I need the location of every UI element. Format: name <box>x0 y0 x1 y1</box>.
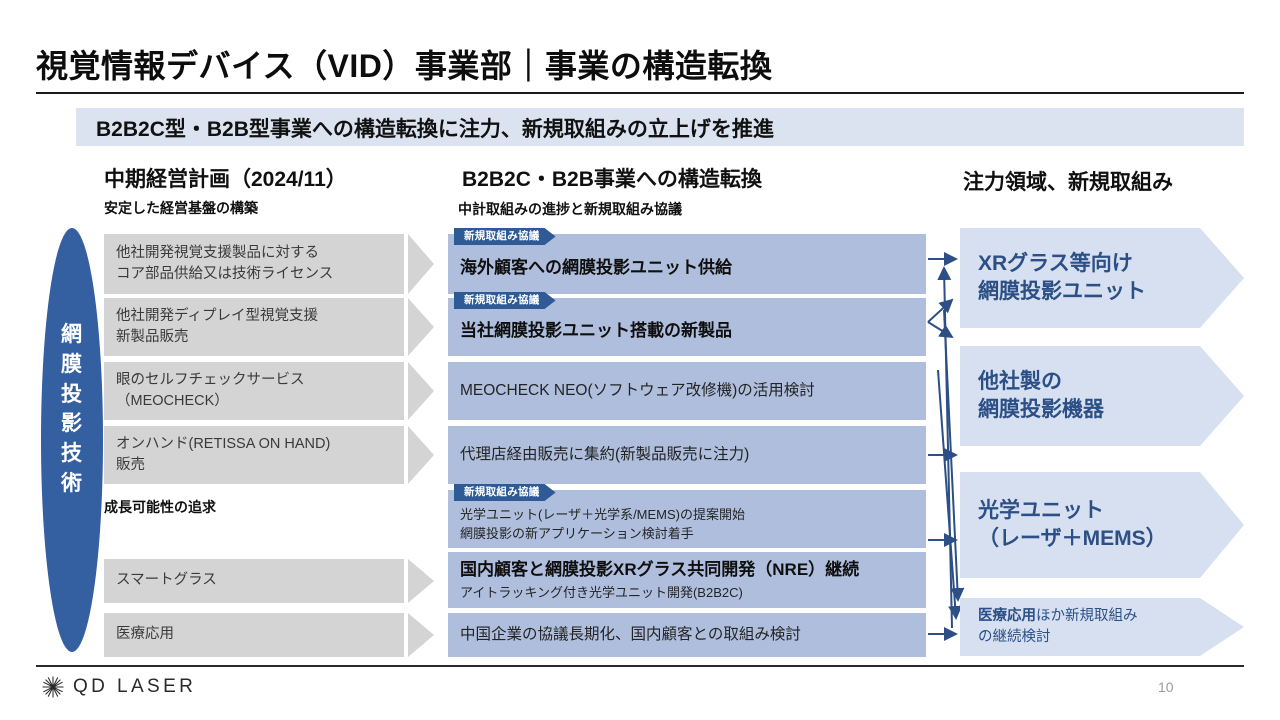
footer-divider <box>36 665 1244 667</box>
column-header-left: 中期経営計画（2024/11） <box>104 163 347 193</box>
middle-item-2-line-1: 当社網膜投影ユニット搭載の新製品 <box>460 319 914 344</box>
right-item-4-bold-prefix: 医療応用 <box>978 608 1036 624</box>
middle-item-2-badge: 新規取組み協議 <box>454 292 556 309</box>
left-arrow-1-icon <box>408 234 434 294</box>
left-arrow-4-icon <box>408 426 434 484</box>
oval-char-1: 網 <box>41 320 103 350</box>
right-item-3-line-2: （レーザ＋MEMS） <box>978 525 1244 553</box>
left-item-4-line-1: オンハンド(RETISSA ON HAND) <box>116 434 394 455</box>
right-item-3-line-1: 光学ユニット <box>978 497 1244 525</box>
middle-item-5-line-1: 光学ユニット(レーザ＋光学系/MEMS)の提案開始 <box>460 505 914 525</box>
title-divider <box>36 92 1244 94</box>
middle-item-3[interactable]: MEOCHECK NEO(ソフトウェア改修機)の活用検討 <box>448 362 926 420</box>
oval-char-4: 影 <box>41 409 103 439</box>
left-item-3[interactable]: 眼のセルフチェックサービス （MEOCHECK） <box>104 362 404 420</box>
oval-char-3: 投 <box>41 380 103 410</box>
right-item-2[interactable]: 他社製の 網膜投影機器 <box>960 346 1244 446</box>
starburst-icon <box>42 676 64 698</box>
left-arrow-5-icon <box>408 559 434 603</box>
column-subheader-stability: 安定した経営基盤の構築 <box>104 198 258 218</box>
middle-item-7-line-1: 中国企業の協議長期化、国内顧客との取組み検討 <box>460 623 914 646</box>
left-item-4[interactable]: オンハンド(RETISSA ON HAND) 販売 <box>104 426 404 484</box>
right-item-4[interactable]: 医療応用ほか新規取組み の継続検討 <box>960 598 1244 656</box>
logo-text: QD LASER <box>73 676 196 698</box>
page-number: 10 <box>1158 679 1174 695</box>
left-item-1-line-1: 他社開発視覚支援製品に対する <box>116 243 394 264</box>
column-header-middle: B2B2C・B2B事業への構造転換 <box>462 163 762 193</box>
left-item-5-line-1: スマートグラス <box>116 570 394 591</box>
column-subheader-middle: 中計取組みの進捗と新規取組み協議 <box>458 199 682 219</box>
right-item-1-line-1: XRグラス等向け <box>978 250 1244 278</box>
right-item-4-rest: ほか新規取組み <box>1036 608 1138 624</box>
left-item-5[interactable]: スマートグラス <box>104 559 404 603</box>
left-item-6[interactable]: 医療応用 <box>104 613 404 657</box>
right-item-4-line-2: の継続検討 <box>978 627 1244 648</box>
left-arrow-3-icon <box>408 362 434 420</box>
middle-item-5-badge: 新規取組み協議 <box>454 484 556 501</box>
right-item-4-line-1: 医療応用ほか新規取組み <box>978 606 1244 627</box>
left-item-1-line-2: コア部品供給又は技術ライセンス <box>116 264 394 285</box>
right-item-2-line-1: 他社製の <box>978 368 1244 396</box>
middle-item-4[interactable]: 代理店経由販売に集約(新製品販売に注力) <box>448 426 926 484</box>
left-item-3-line-1: 眼のセルフチェックサービス <box>116 370 394 391</box>
slide-root: 視覚情報デバイス（VID）事業部｜事業の構造転換 B2B2C型・B2B型事業への… <box>0 0 1280 720</box>
brand-logo: QD LASER <box>42 676 196 698</box>
left-item-2-line-2: 新製品販売 <box>116 327 394 348</box>
middle-item-4-line-1: 代理店経由販売に集約(新製品販売に注力) <box>460 443 914 466</box>
middle-item-6-line-1: 国内顧客と網膜投影XRグラス共同開発（NRE）継続 <box>460 558 914 583</box>
left-arrow-2-icon <box>408 298 434 356</box>
left-item-6-line-1: 医療応用 <box>116 624 394 645</box>
middle-item-3-line-1: MEOCHECK NEO(ソフトウェア改修機)の活用検討 <box>460 379 914 402</box>
oval-char-2: 膜 <box>41 350 103 380</box>
oval-label: 網 膜 投 影 技 術 <box>41 320 103 499</box>
oval-char-5: 技 <box>41 439 103 469</box>
left-item-1[interactable]: 他社開発視覚支援製品に対する コア部品供給又は技術ライセンス <box>104 234 404 294</box>
left-item-2[interactable]: 他社開発ディプレイ型視覚支援 新製品販売 <box>104 298 404 356</box>
column-subheader-growth: 成長可能性の追求 <box>104 497 216 517</box>
middle-item-1-badge: 新規取組み協議 <box>454 228 556 245</box>
page-title: 視覚情報デバイス（VID）事業部｜事業の構造転換 <box>36 41 772 87</box>
oval-char-6: 術 <box>41 469 103 499</box>
left-arrow-6-icon <box>408 613 434 657</box>
right-item-2-line-2: 網膜投影機器 <box>978 396 1244 424</box>
middle-item-6[interactable]: 国内顧客と網膜投影XRグラス共同開発（NRE）継続 アイトラッキング付き光学ユニ… <box>448 552 926 608</box>
left-item-2-line-1: 他社開発ディプレイ型視覚支援 <box>116 306 394 327</box>
column-header-right: 注力領域、新規取組み <box>963 166 1173 196</box>
middle-item-6-line-2: アイトラッキング付き光学ユニット開発(B2B2C) <box>460 583 914 603</box>
right-item-1[interactable]: XRグラス等向け 網膜投影ユニット <box>960 228 1244 328</box>
right-item-3[interactable]: 光学ユニット （レーザ＋MEMS） <box>960 472 1244 578</box>
subtitle-text: B2B2C型・B2B型事業への構造転換に注力、新規取組みの立上げを推進 <box>96 113 774 143</box>
middle-item-1-line-1: 海外顧客への網膜投影ユニット供給 <box>460 256 914 281</box>
middle-item-5-line-2: 網膜投影の新アプリケーション検討着手 <box>460 524 914 544</box>
right-item-1-line-2: 網膜投影ユニット <box>978 278 1244 306</box>
middle-item-7[interactable]: 中国企業の協議長期化、国内顧客との取組み検討 <box>448 613 926 657</box>
left-item-3-line-2: （MEOCHECK） <box>116 391 394 412</box>
left-item-4-line-2: 販売 <box>116 455 394 476</box>
